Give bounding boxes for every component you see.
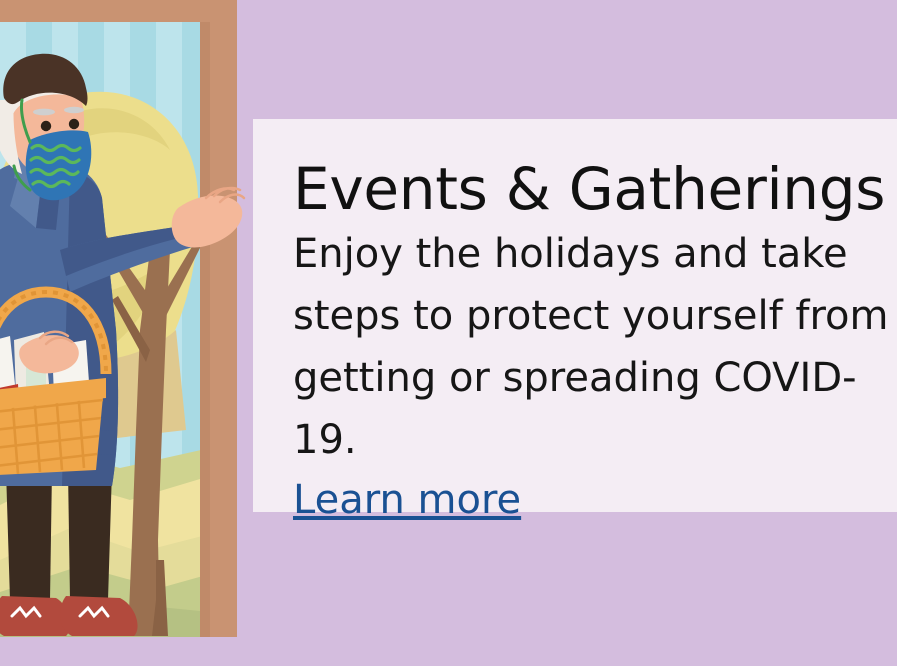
page-title: Events & Gatherings [293, 157, 897, 221]
info-card: Events & Gatherings Enjoy the holidays a… [253, 119, 897, 512]
illustration-doorway-masked-person [0, 0, 250, 666]
covid-events-banner: Events & Gatherings Enjoy the holidays a… [0, 0, 897, 666]
illustration-svg [0, 0, 250, 666]
card-description: Enjoy the holidays and take steps to pro… [293, 221, 893, 471]
learn-more-link[interactable]: Learn more [293, 473, 521, 527]
